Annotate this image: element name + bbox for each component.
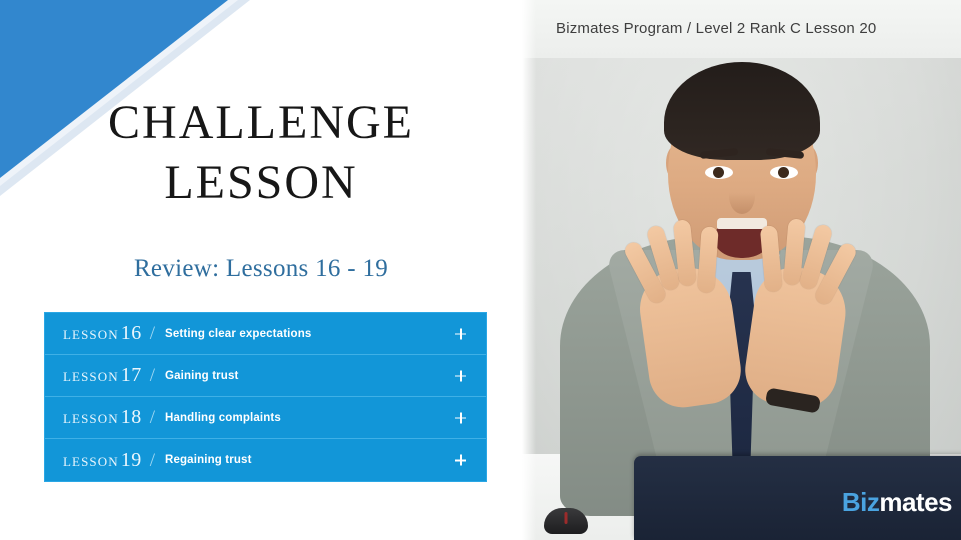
plus-icon[interactable] bbox=[455, 328, 466, 339]
bizmates-logo: Bizmates bbox=[842, 487, 952, 518]
plus-icon[interactable] bbox=[455, 455, 466, 466]
lesson-label: Lesson 17 / bbox=[63, 364, 165, 387]
finger bbox=[697, 226, 719, 293]
lesson-video-screen: CHALLENGE LESSON Review: Lessons 16 - 19… bbox=[0, 0, 961, 540]
lesson-topic: Handling complaints bbox=[165, 412, 281, 424]
lesson-list: Lesson 16 / Setting clear expectations L… bbox=[45, 313, 486, 481]
nose bbox=[729, 178, 755, 214]
panel-divider bbox=[522, 0, 536, 540]
teeth bbox=[717, 218, 767, 229]
lesson-word: Lesson bbox=[63, 369, 119, 385]
lesson-number: 17 bbox=[121, 364, 142, 387]
list-item[interactable]: Lesson 17 / Gaining trust bbox=[45, 355, 486, 397]
video-panel: Bizmates Bizmates Program / Level 2 Rank… bbox=[522, 0, 961, 540]
video-header-bar: Bizmates Program / Level 2 Rank C Lesson… bbox=[522, 0, 961, 58]
slide-title-line1: CHALLENGE bbox=[108, 96, 414, 149]
lesson-number: 18 bbox=[121, 406, 142, 429]
lesson-topic: Gaining trust bbox=[165, 370, 239, 382]
lesson-topic: Regaining trust bbox=[165, 454, 252, 466]
lesson-word: Lesson bbox=[63, 411, 119, 427]
lesson-separator: / bbox=[150, 365, 155, 387]
computer-mouse bbox=[544, 508, 588, 534]
slide-panel: CHALLENGE LESSON Review: Lessons 16 - 19… bbox=[0, 0, 522, 540]
slide-title-line2: LESSON bbox=[0, 153, 522, 213]
lesson-label: Lesson 19 / bbox=[63, 449, 165, 472]
lesson-word: Lesson bbox=[63, 454, 119, 470]
plus-icon[interactable] bbox=[455, 412, 466, 423]
slide-title: CHALLENGE LESSON bbox=[0, 93, 522, 213]
lesson-number: 19 bbox=[121, 449, 142, 472]
logo-text-mates: mates bbox=[879, 487, 952, 517]
lesson-label: Lesson 16 / bbox=[63, 322, 165, 345]
list-item[interactable]: Lesson 19 / Regaining trust bbox=[45, 439, 486, 481]
laptop-lid: Bizmates bbox=[634, 456, 961, 540]
slide-subtitle: Review: Lessons 16 - 19 bbox=[0, 255, 522, 283]
lesson-separator: / bbox=[150, 407, 155, 429]
lesson-number: 16 bbox=[121, 322, 142, 345]
lesson-separator: / bbox=[150, 323, 155, 345]
plus-icon[interactable] bbox=[455, 370, 466, 381]
list-item[interactable]: Lesson 18 / Handling complaints bbox=[45, 397, 486, 439]
lesson-topic: Setting clear expectations bbox=[165, 328, 311, 340]
lesson-label: Lesson 18 / bbox=[63, 406, 165, 429]
eye-right bbox=[770, 166, 798, 179]
lesson-separator: / bbox=[150, 450, 155, 472]
list-item[interactable]: Lesson 16 / Setting clear expectations bbox=[45, 313, 486, 355]
logo-text-biz: Biz bbox=[842, 487, 880, 517]
breadcrumb: Bizmates Program / Level 2 Rank C Lesson… bbox=[556, 20, 876, 37]
lesson-word: Lesson bbox=[63, 327, 119, 343]
